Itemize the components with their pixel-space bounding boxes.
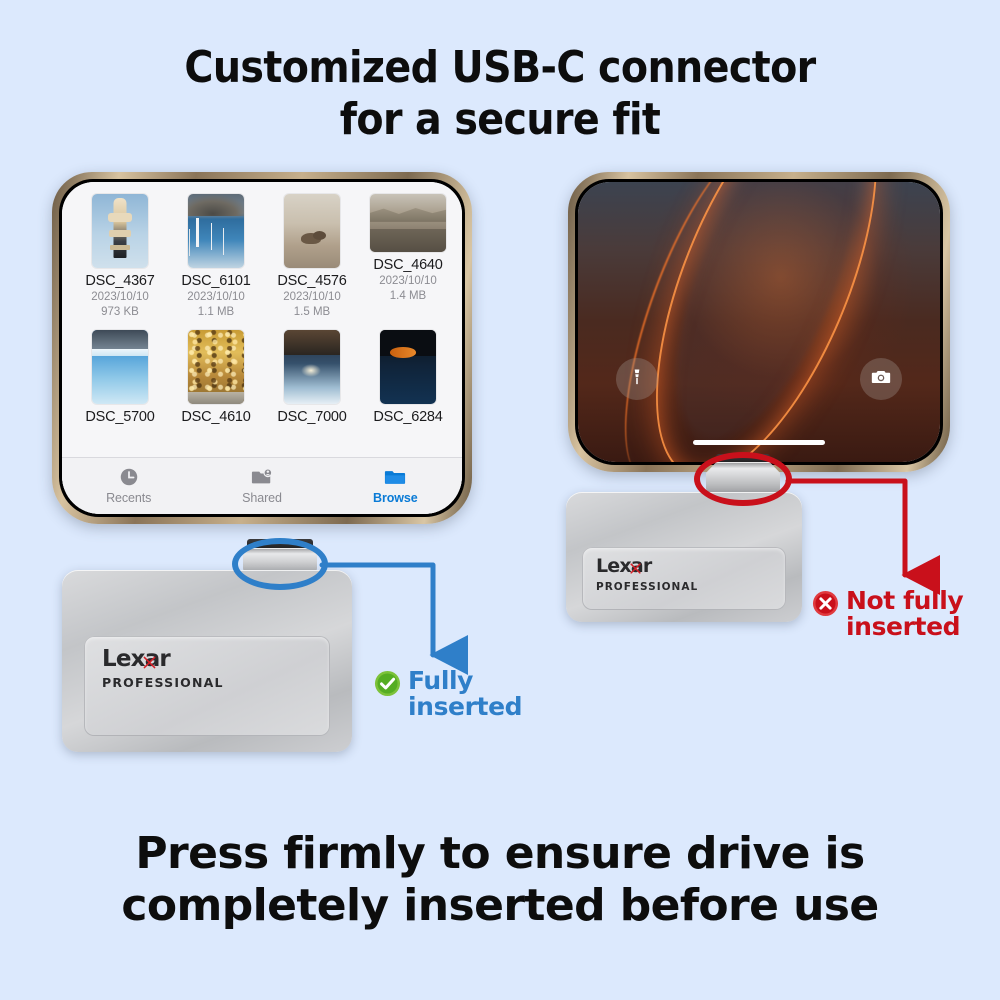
- file-name: DSC_7000: [268, 409, 356, 426]
- red-ellipse-highlight: [694, 452, 792, 506]
- file-name: DSC_4610: [172, 409, 260, 426]
- brand-name: Lexar: [102, 648, 170, 671]
- brand-subtitle: PROFESSIONAL: [596, 581, 698, 593]
- flashlight-icon: [627, 367, 647, 392]
- camera-button[interactable]: [860, 358, 902, 400]
- file-name: DSC_4576: [268, 273, 356, 290]
- list-item[interactable]: DSC_4576 2023/10/10 1.5 MB: [268, 194, 356, 321]
- tab-label: Shared: [242, 491, 282, 505]
- list-item: 2023/10/10 1.5 MB: [268, 182, 356, 185]
- annotation-line-1: Not fully: [846, 586, 963, 615]
- brand-text: Lexar: [596, 555, 651, 577]
- file-name: DSC_4640: [364, 257, 452, 274]
- file-size: 1.1 MB: [172, 182, 260, 185]
- annotation-text: Fully inserted: [408, 668, 522, 721]
- shared-folder-icon: [250, 466, 274, 488]
- lock-screen: [578, 182, 940, 462]
- camera-icon: [870, 366, 892, 393]
- file-size: 1.1 MB: [364, 182, 452, 185]
- tower-photo-thumbnail[interactable]: [92, 194, 148, 268]
- blue-ellipse-highlight: [232, 538, 328, 590]
- lexar-logo: Lexar PROFESSIONAL: [596, 557, 698, 593]
- file-name: DSC_6101: [172, 273, 260, 290]
- file-date: 2023/10/10: [364, 274, 452, 290]
- page-headline: Customized USB-C connector for a secure …: [0, 42, 1000, 146]
- tab-label: Recents: [106, 491, 151, 505]
- tab-recents[interactable]: Recents: [79, 466, 179, 505]
- file-name: DSC_6284: [364, 409, 452, 426]
- footer-line-1: Press firmly to ensure drive is: [135, 828, 864, 879]
- green-check-badge-icon: [374, 670, 401, 697]
- right-phone-device: [568, 172, 950, 472]
- folder-icon: [383, 466, 407, 488]
- right-phone-bezel: [575, 179, 943, 465]
- list-item[interactable]: DSC_6101 2023/10/10 1.1 MB: [172, 194, 260, 321]
- desert-photo-thumbnail[interactable]: [284, 194, 340, 268]
- brand-name: Lexar: [596, 557, 651, 576]
- list-item[interactable]: DSC_4610: [172, 330, 260, 426]
- harbor-photo-thumbnail[interactable]: [188, 194, 244, 268]
- headline-line-2: for a secure fit: [0, 94, 1000, 146]
- file-name: DSC_4367: [76, 273, 164, 290]
- left-phone-device: 2023/10/10 973 KB 2023/10/10 1.1 MB 2023…: [52, 172, 472, 524]
- file-size: 1.5 MB: [268, 182, 356, 185]
- file-row-1: DSC_4367 2023/10/10 973 KB DSC_6101 2023…: [76, 194, 448, 321]
- list-item[interactable]: DSC_7000: [268, 330, 356, 426]
- brand-subtitle: PROFESSIONAL: [102, 675, 224, 690]
- left-phone-screen: 2023/10/10 973 KB 2023/10/10 1.1 MB 2023…: [62, 182, 462, 514]
- infographic-canvas: Customized USB-C connector for a secure …: [0, 0, 1000, 1000]
- dark-photo-thumbnail[interactable]: [380, 330, 436, 404]
- callout-line-not-fully-inserted: [788, 481, 905, 575]
- status-badge-not-fully-inserted: Not fully inserted: [812, 588, 963, 641]
- files-tab-bar: Recents Shared: [62, 457, 462, 514]
- list-item[interactable]: DSC_5700: [76, 330, 164, 426]
- flashlight-button[interactable]: [616, 358, 658, 400]
- right-phone-screen: [578, 182, 940, 462]
- tab-browse[interactable]: Browse: [345, 466, 445, 505]
- left-phone-bezel: 2023/10/10 973 KB 2023/10/10 1.1 MB 2023…: [59, 179, 465, 517]
- water-photo-thumbnail[interactable]: [92, 330, 148, 404]
- ssd-front-panel: Lexar PROFESSIONAL: [84, 636, 330, 736]
- clipped-file-row: 2023/10/10 973 KB 2023/10/10 1.1 MB 2023…: [76, 182, 448, 185]
- file-date: 2023/10/10: [76, 290, 164, 306]
- list-item[interactable]: DSC_4640 2023/10/10 1.4 MB: [364, 194, 452, 321]
- list-item: 2023/10/10 1.1 MB: [364, 182, 452, 185]
- annotation-text: Not fully inserted: [846, 588, 963, 641]
- ssd-front-panel: Lexar PROFESSIONAL: [582, 547, 786, 610]
- clock-icon: [117, 466, 141, 488]
- home-indicator-bar[interactable]: [693, 440, 825, 445]
- tab-label: Browse: [373, 491, 418, 505]
- lexar-ssd-right: Lexar PROFESSIONAL: [566, 492, 802, 622]
- file-size: 1.4 MB: [364, 289, 452, 305]
- file-date: 2023/10/10: [172, 290, 260, 306]
- list-item: 2023/10/10 973 KB: [76, 182, 164, 185]
- file-size: 1.5 MB: [268, 305, 356, 321]
- footer-line-2: completely inserted before use: [0, 880, 1000, 932]
- annotation-line-2: inserted: [408, 694, 522, 720]
- status-badge-fully-inserted: Fully inserted: [374, 668, 522, 721]
- red-x-badge-icon: [812, 590, 839, 617]
- page-footer-text: Press firmly to ensure drive is complete…: [0, 828, 1000, 932]
- file-name: DSC_5700: [76, 409, 164, 426]
- file-size: 1.1 MB: [172, 305, 260, 321]
- lexar-ssd-left: Lexar PROFESSIONAL: [62, 570, 352, 752]
- night-photo-thumbnail[interactable]: [284, 330, 340, 404]
- file-date: 2023/10/10: [268, 290, 356, 306]
- headline-line-1: Customized USB-C connector: [184, 42, 815, 93]
- files-grid[interactable]: 2023/10/10 973 KB 2023/10/10 1.1 MB 2023…: [62, 182, 462, 457]
- tab-shared[interactable]: Shared: [212, 466, 312, 505]
- list-item[interactable]: DSC_4367 2023/10/10 973 KB: [76, 194, 164, 321]
- files-app: 2023/10/10 973 KB 2023/10/10 1.1 MB 2023…: [62, 182, 462, 514]
- brand-text: Lexar: [102, 646, 170, 672]
- annotation-line-2: inserted: [846, 614, 963, 640]
- gold-photo-thumbnail[interactable]: [188, 330, 244, 404]
- lexar-logo: Lexar PROFESSIONAL: [102, 648, 224, 690]
- list-item: 2023/10/10 1.1 MB: [172, 182, 260, 185]
- list-item[interactable]: DSC_6284: [364, 330, 452, 426]
- annotation-line-1: Fully: [408, 666, 473, 695]
- file-size: 973 KB: [76, 182, 164, 185]
- canyon-photo-thumbnail[interactable]: [370, 194, 446, 252]
- file-row-2: DSC_5700 DSC_4610 DSC_7000: [76, 330, 448, 426]
- file-size: 973 KB: [76, 305, 164, 321]
